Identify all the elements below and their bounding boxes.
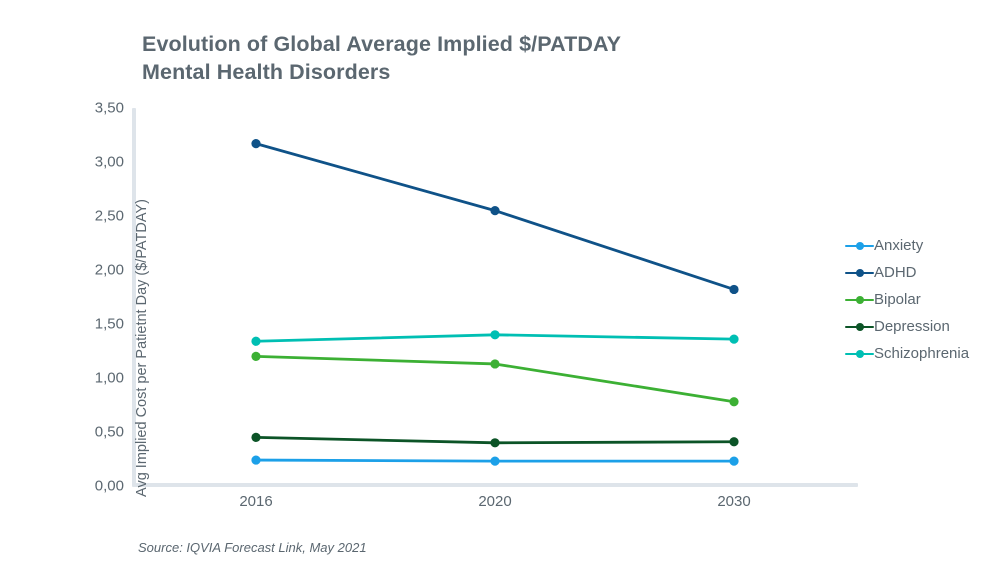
source-note: Source: IQVIA Forecast Link, May 2021	[138, 540, 367, 555]
line-series-svg	[132, 108, 858, 486]
series-depression	[251, 433, 738, 448]
data-point[interactable]	[729, 437, 738, 446]
legend-marker-icon	[845, 267, 874, 279]
x-axis-tick-labels: 201620202030	[132, 493, 858, 517]
x-tick-label: 2030	[674, 493, 794, 510]
x-tick-label: 2016	[196, 493, 316, 510]
legend-label: ADHD	[874, 264, 917, 281]
legend-marker-icon	[845, 348, 874, 360]
legend-label: Anxiety	[874, 237, 923, 254]
data-point[interactable]	[729, 285, 738, 294]
data-point[interactable]	[490, 206, 499, 215]
data-point[interactable]	[251, 139, 260, 148]
y-tick-label: 2,00	[72, 262, 124, 279]
series-line	[256, 144, 734, 290]
data-point[interactable]	[490, 359, 499, 368]
legend-item-adhd[interactable]: ADHD	[845, 259, 1000, 286]
legend-item-schizophrenia[interactable]: Schizophrenia	[845, 340, 1000, 367]
series-schizophrenia	[251, 330, 738, 346]
chart-container: Evolution of Global Average Implied $/PA…	[0, 0, 1000, 569]
legend-label: Schizophrenia	[874, 345, 969, 362]
y-tick-label: 3,00	[72, 154, 124, 171]
y-tick-label: 0,00	[72, 478, 124, 495]
y-axis-tick-labels: 0,000,501,001,502,002,503,003,50	[72, 108, 124, 486]
data-point[interactable]	[251, 337, 260, 346]
data-point[interactable]	[729, 457, 738, 466]
y-tick-label: 0,50	[72, 424, 124, 441]
chart-title: Evolution of Global Average Implied $/PA…	[142, 30, 782, 86]
legend-marker-icon	[845, 294, 874, 306]
data-point[interactable]	[251, 433, 260, 442]
legend: AnxietyADHDBipolarDepressionSchizophreni…	[845, 232, 1000, 367]
data-point[interactable]	[251, 455, 260, 464]
legend-item-anxiety[interactable]: Anxiety	[845, 232, 1000, 259]
y-tick-label: 1,00	[72, 370, 124, 387]
legend-item-depression[interactable]: Depression	[845, 313, 1000, 340]
data-point[interactable]	[729, 335, 738, 344]
y-tick-label: 3,50	[72, 100, 124, 117]
series-anxiety	[251, 455, 738, 465]
data-point[interactable]	[251, 352, 260, 361]
series-bipolar	[251, 352, 738, 407]
series-adhd	[251, 139, 738, 294]
x-tick-label: 2020	[435, 493, 555, 510]
y-tick-label: 2,50	[72, 208, 124, 225]
legend-label: Bipolar	[874, 291, 921, 308]
data-point[interactable]	[490, 457, 499, 466]
legend-marker-icon	[845, 240, 874, 252]
data-point[interactable]	[490, 438, 499, 447]
legend-item-bipolar[interactable]: Bipolar	[845, 286, 1000, 313]
plot-area: Avg Implied Cost per Patietnt Day ($/PAT…	[132, 108, 858, 486]
data-point[interactable]	[729, 397, 738, 406]
data-point[interactable]	[490, 330, 499, 339]
legend-marker-icon	[845, 321, 874, 333]
y-tick-label: 1,50	[72, 316, 124, 333]
legend-label: Depression	[874, 318, 950, 335]
y-axis-title: Avg Implied Cost per Patietnt Day ($/PAT…	[134, 113, 150, 583]
